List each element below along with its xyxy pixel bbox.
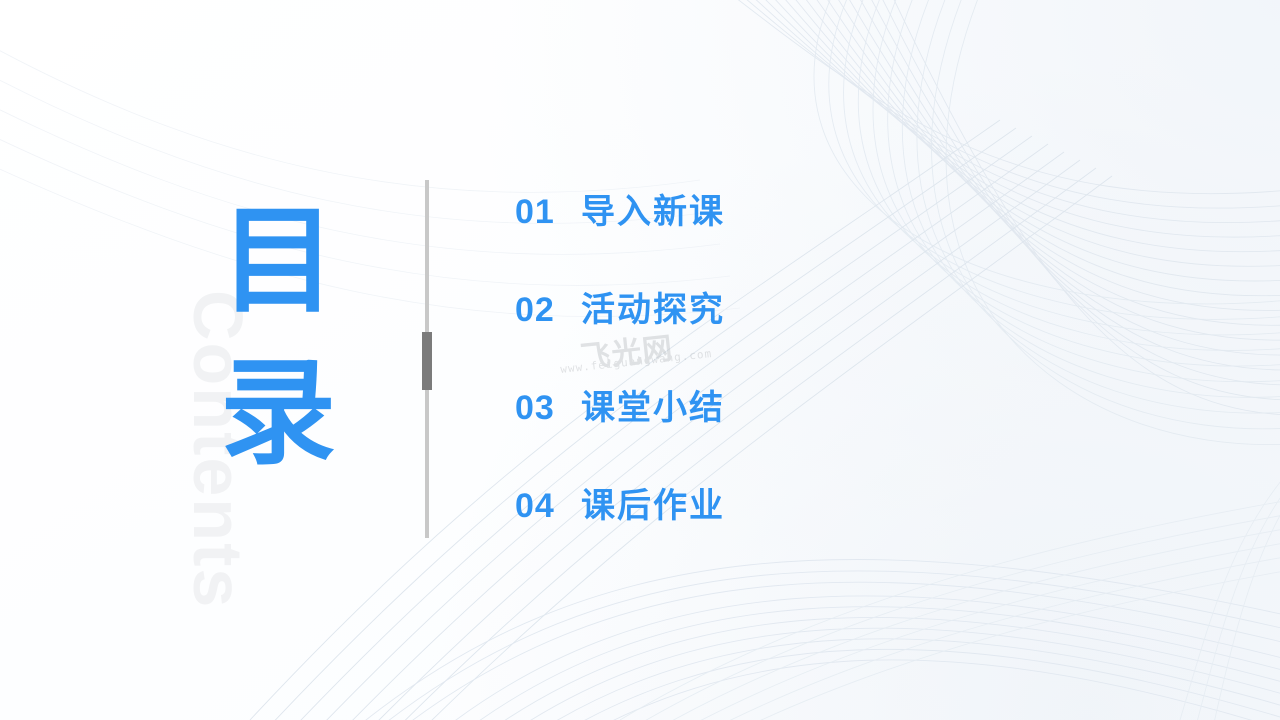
- contents-item-label: 课后作业: [581, 478, 725, 527]
- contents-menu: 01 导入新课 02 活动探究 03 课堂小结 04 课后作业: [515, 184, 815, 576]
- presentation-slide: Contents 目 录 01 导入新课 02 活动探究 03 课堂小结 04 …: [0, 0, 1280, 720]
- title-char-2: 录: [220, 338, 378, 490]
- contents-item-number: 04: [515, 487, 581, 526]
- slide-title-block: Contents 目 录: [198, 186, 378, 486]
- contents-item-number: 02: [515, 291, 581, 330]
- contents-item-number: 01: [515, 193, 581, 232]
- contents-item-label: 导入新课: [581, 184, 725, 233]
- page-title: 目 录: [198, 186, 378, 490]
- divider-progress-thumb[interactable]: [422, 332, 432, 390]
- contents-item-number: 03: [515, 389, 581, 428]
- contents-item-04[interactable]: 04 课后作业: [515, 478, 815, 576]
- contents-item-label: 课堂小结: [581, 380, 725, 429]
- title-char-1: 目: [220, 186, 378, 338]
- vertical-divider: [425, 180, 429, 538]
- contents-item-03[interactable]: 03 课堂小结: [515, 380, 815, 478]
- contents-item-01[interactable]: 01 导入新课: [515, 184, 815, 282]
- contents-item-label: 活动探究: [581, 282, 725, 331]
- contents-item-02[interactable]: 02 活动探究: [515, 282, 815, 380]
